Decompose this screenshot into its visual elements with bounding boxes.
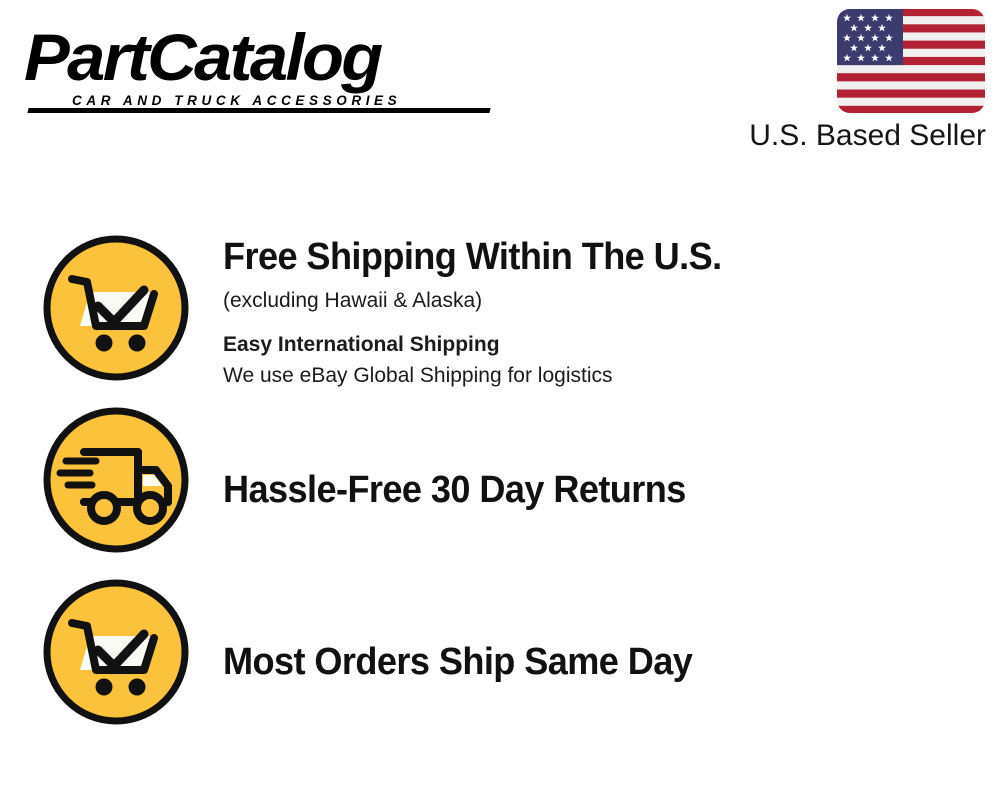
seller-caption: U.S. Based Seller bbox=[714, 118, 986, 154]
seller-badge: U.S. Based Seller bbox=[714, 8, 986, 154]
feature-row: Most Orders Ship Same Day bbox=[0, 576, 1000, 748]
feature-text-block: Hassle-Free 30 Day Returns bbox=[192, 467, 1000, 513]
feature-subtitle-exclusions: (excluding Hawaii & Alaska) bbox=[223, 286, 1000, 316]
feature-text-block: Free Shipping Within The U.S. (excluding… bbox=[192, 232, 1000, 391]
brand-underline-rule bbox=[27, 108, 490, 113]
feature-title: Free Shipping Within The U.S. bbox=[223, 234, 961, 280]
feature-subtitle-logistics: We use eBay Global Shipping for logistic… bbox=[223, 361, 1000, 391]
feature-subtitle-international: Easy International Shipping bbox=[223, 330, 1000, 360]
us-flag-icon bbox=[836, 8, 986, 114]
feature-list: Free Shipping Within The U.S. (excluding… bbox=[0, 232, 1000, 748]
banner-header: PartCatalog CAR AND TRUCK ACCESSORIES bbox=[0, 0, 1000, 175]
brand-logo: PartCatalog CAR AND TRUCK ACCESSORIES bbox=[24, 22, 494, 109]
shopping-cart-check-icon bbox=[40, 232, 192, 384]
shipping-info-banner: PartCatalog CAR AND TRUCK ACCESSORIES bbox=[0, 0, 1000, 800]
feature-title: Hassle-Free 30 Day Returns bbox=[223, 467, 961, 513]
feature-text-block: Most Orders Ship Same Day bbox=[192, 639, 1000, 685]
feature-title: Most Orders Ship Same Day bbox=[223, 639, 961, 685]
feature-row: Hassle-Free 30 Day Returns bbox=[0, 404, 1000, 576]
brand-wordmark: PartCatalog bbox=[24, 22, 513, 92]
feature-row: Free Shipping Within The U.S. (excluding… bbox=[0, 232, 1000, 404]
brand-tagline: CAR AND TRUCK ACCESSORIES bbox=[72, 93, 494, 109]
shopping-cart-check-icon bbox=[40, 576, 192, 728]
delivery-truck-icon bbox=[40, 404, 192, 556]
